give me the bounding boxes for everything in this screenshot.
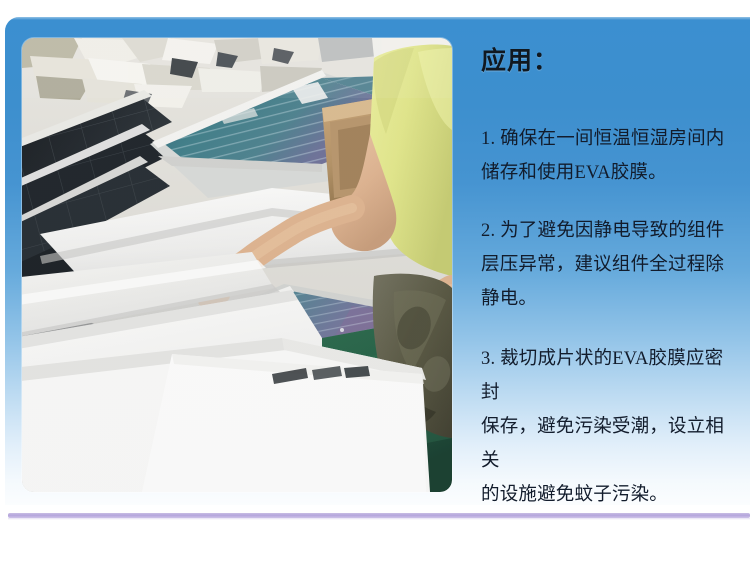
panel-top-highlight <box>5 17 750 20</box>
application-item-1: 1. 确保在一间恒温恒湿房间内 储存和使用EVA胶膜。 <box>481 122 741 190</box>
application-item-3-line-1: 3. 裁切成片状的EVA胶膜应密封 <box>481 342 741 410</box>
page-title: 应用： <box>481 46 741 76</box>
application-item-3-line-3: 的设施避免蚊子污染。 <box>481 478 741 512</box>
photo-illustration <box>22 38 452 492</box>
page-canvas: 应用： 1. 确保在一间恒温恒湿房间内 储存和使用EVA胶膜。 2. 为了避免因… <box>0 0 750 561</box>
application-photo <box>22 38 452 492</box>
application-item-2: 2. 为了避免因静电导致的组件 层压异常，建议组件全过程除 静电。 <box>481 214 741 316</box>
application-item-3-line-2: 保存，避免污染受潮，设立相关 <box>481 410 741 478</box>
application-item-3: 3. 裁切成片状的EVA胶膜应密封 保存，避免污染受潮，设立相关 的设施避免蚊子… <box>481 342 741 512</box>
bottom-divider-shadow <box>8 518 750 520</box>
application-item-2-line-2: 层压异常，建议组件全过程除 <box>481 248 741 282</box>
application-item-1-line-2: 储存和使用EVA胶膜。 <box>481 156 741 190</box>
application-item-2-line-3: 静电。 <box>481 282 741 316</box>
application-text-column: 应用： 1. 确保在一间恒温恒湿房间内 储存和使用EVA胶膜。 2. 为了避免因… <box>481 46 741 512</box>
application-item-1-line-1: 1. 确保在一间恒温恒湿房间内 <box>481 122 741 156</box>
application-item-2-line-1: 2. 为了避免因静电导致的组件 <box>481 214 741 248</box>
